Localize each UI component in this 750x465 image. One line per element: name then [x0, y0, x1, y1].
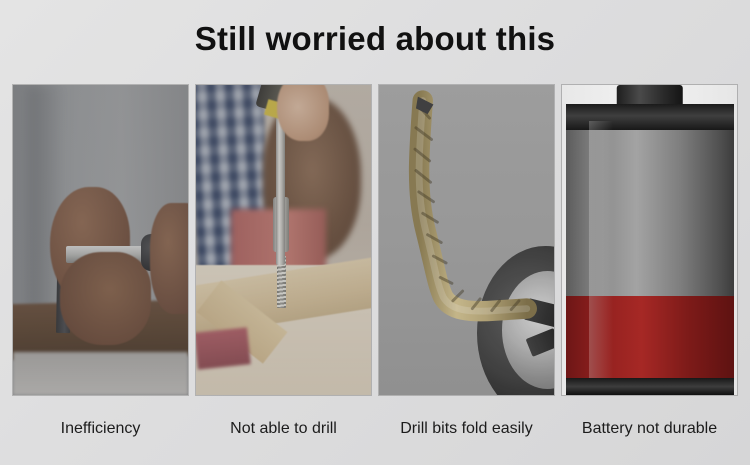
panel-inefficiency: [13, 85, 188, 395]
panel-not-able-to-drill: [196, 85, 371, 395]
battery-gloss: [589, 121, 613, 377]
low-battery-illustration: [562, 85, 737, 395]
battery-cap-bottom: [566, 378, 734, 395]
driving-screw-photo: [196, 85, 371, 395]
panel-row: [13, 85, 737, 395]
battery-body: [566, 104, 734, 395]
bent-drill-bit-photo: [379, 85, 554, 395]
page-title: Still worried about this: [0, 20, 750, 58]
photo-overlay: [379, 85, 554, 395]
panel-drill-bits-fold: [379, 85, 554, 395]
manual-screwdriver-photo: [13, 85, 188, 395]
caption-battery-not-durable: Battery not durable: [562, 412, 737, 446]
caption-drill-bits-fold-easily: Drill bits fold easily: [379, 412, 554, 446]
caption-row: Inefficiency Not able to drill Drill bit…: [13, 412, 737, 446]
promo-banner: Still worried about this: [0, 0, 750, 465]
photo-overlay: [196, 85, 371, 395]
caption-inefficiency: Inefficiency: [13, 412, 188, 446]
caption-not-able-to-drill: Not able to drill: [196, 412, 371, 446]
panel-battery-not-durable: [562, 85, 737, 395]
photo-overlay: [13, 85, 188, 395]
